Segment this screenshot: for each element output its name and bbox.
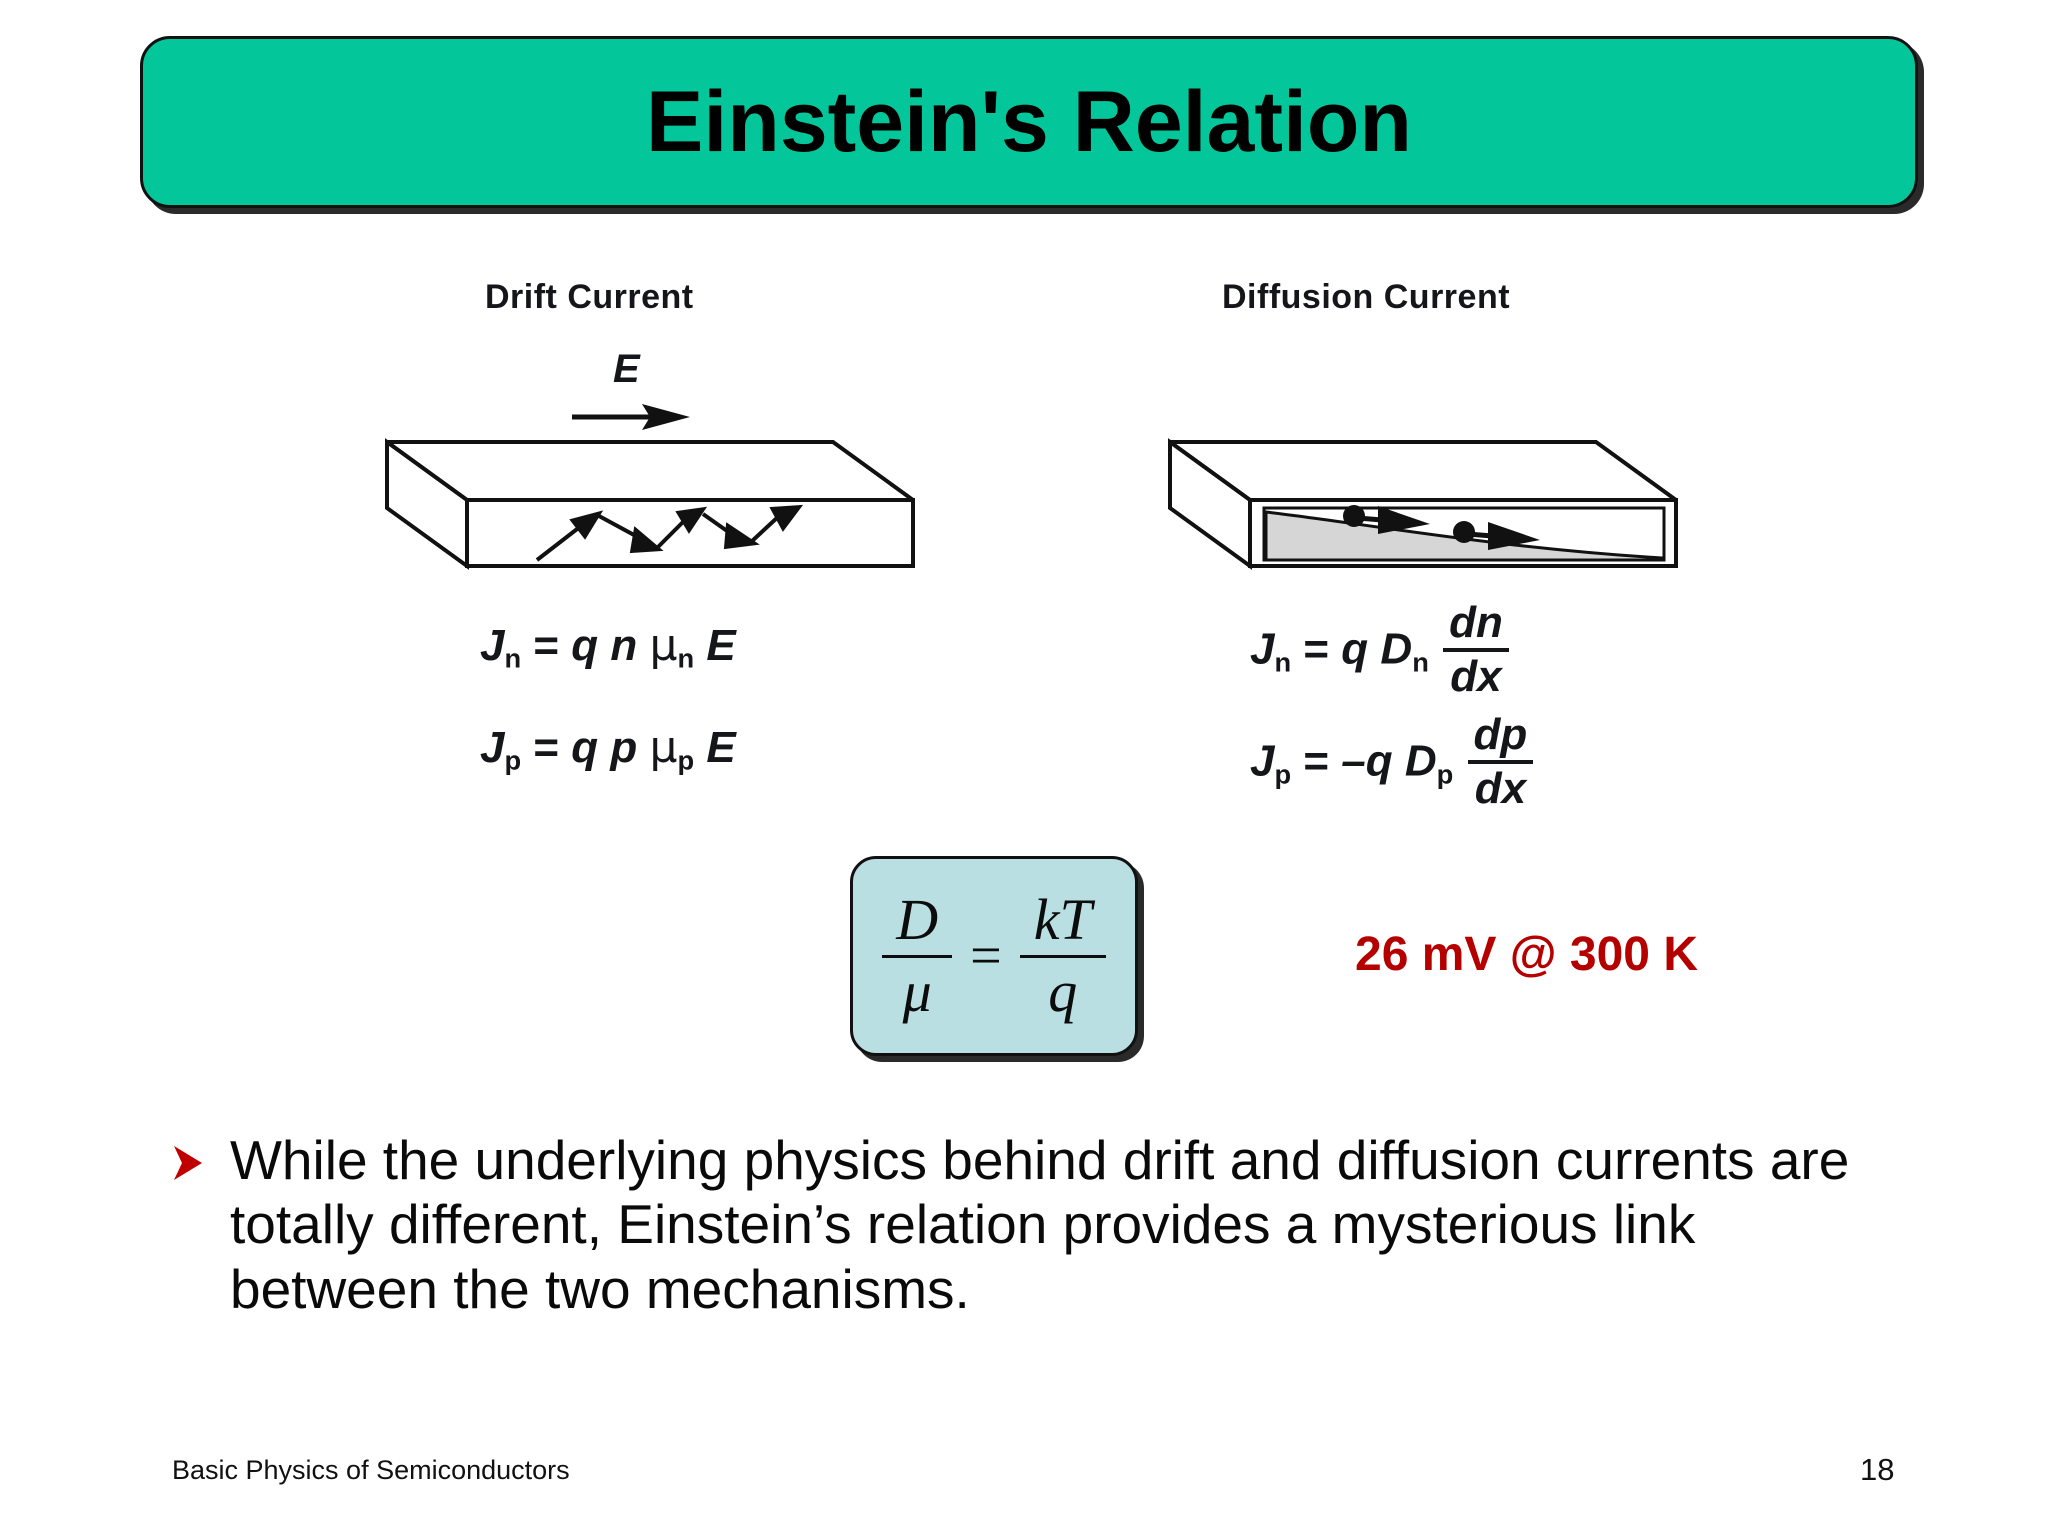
drift-equation-electrons: Jn = q n μn E [480,620,736,675]
page-title: Einstein's Relation [646,79,1412,165]
einstein-equals-sign: = [970,924,1002,988]
drift-equation-holes: Jp = q p μp E [480,722,736,777]
title-banner: Einstein's Relation [140,36,1918,208]
electric-field-label: E [613,347,640,392]
footer-label: Basic Physics of Semiconductors [172,1455,570,1486]
einstein-lhs-fraction: D μ [882,890,952,1023]
einstein-formula-box: D μ = kT q [850,856,1138,1056]
diffusion-equation-holes: Jp = –q Dp dpdx [1250,712,1535,816]
page-number: 18 [1860,1452,1894,1488]
slide-canvas: Einstein's Relation Drift Current E [0,0,2048,1536]
bullet-arrow-icon [168,1128,230,1321]
diffusion-current-heading: Diffusion Current [1222,278,1510,317]
diffusion-equation-electrons: Jn = q Dn dndx [1250,600,1511,704]
einstein-rhs-fraction: kT q [1020,890,1106,1023]
bullet-text: While the underlying physics behind drif… [230,1128,1908,1321]
thermal-voltage-note: 26 mV @ 300 K [1355,927,1698,982]
diffusion-current-slab-diagram [1168,420,1678,580]
drift-current-heading: Drift Current [485,278,694,317]
drift-current-slab-diagram [385,420,915,580]
bullet-item: While the underlying physics behind drif… [168,1128,1908,1321]
